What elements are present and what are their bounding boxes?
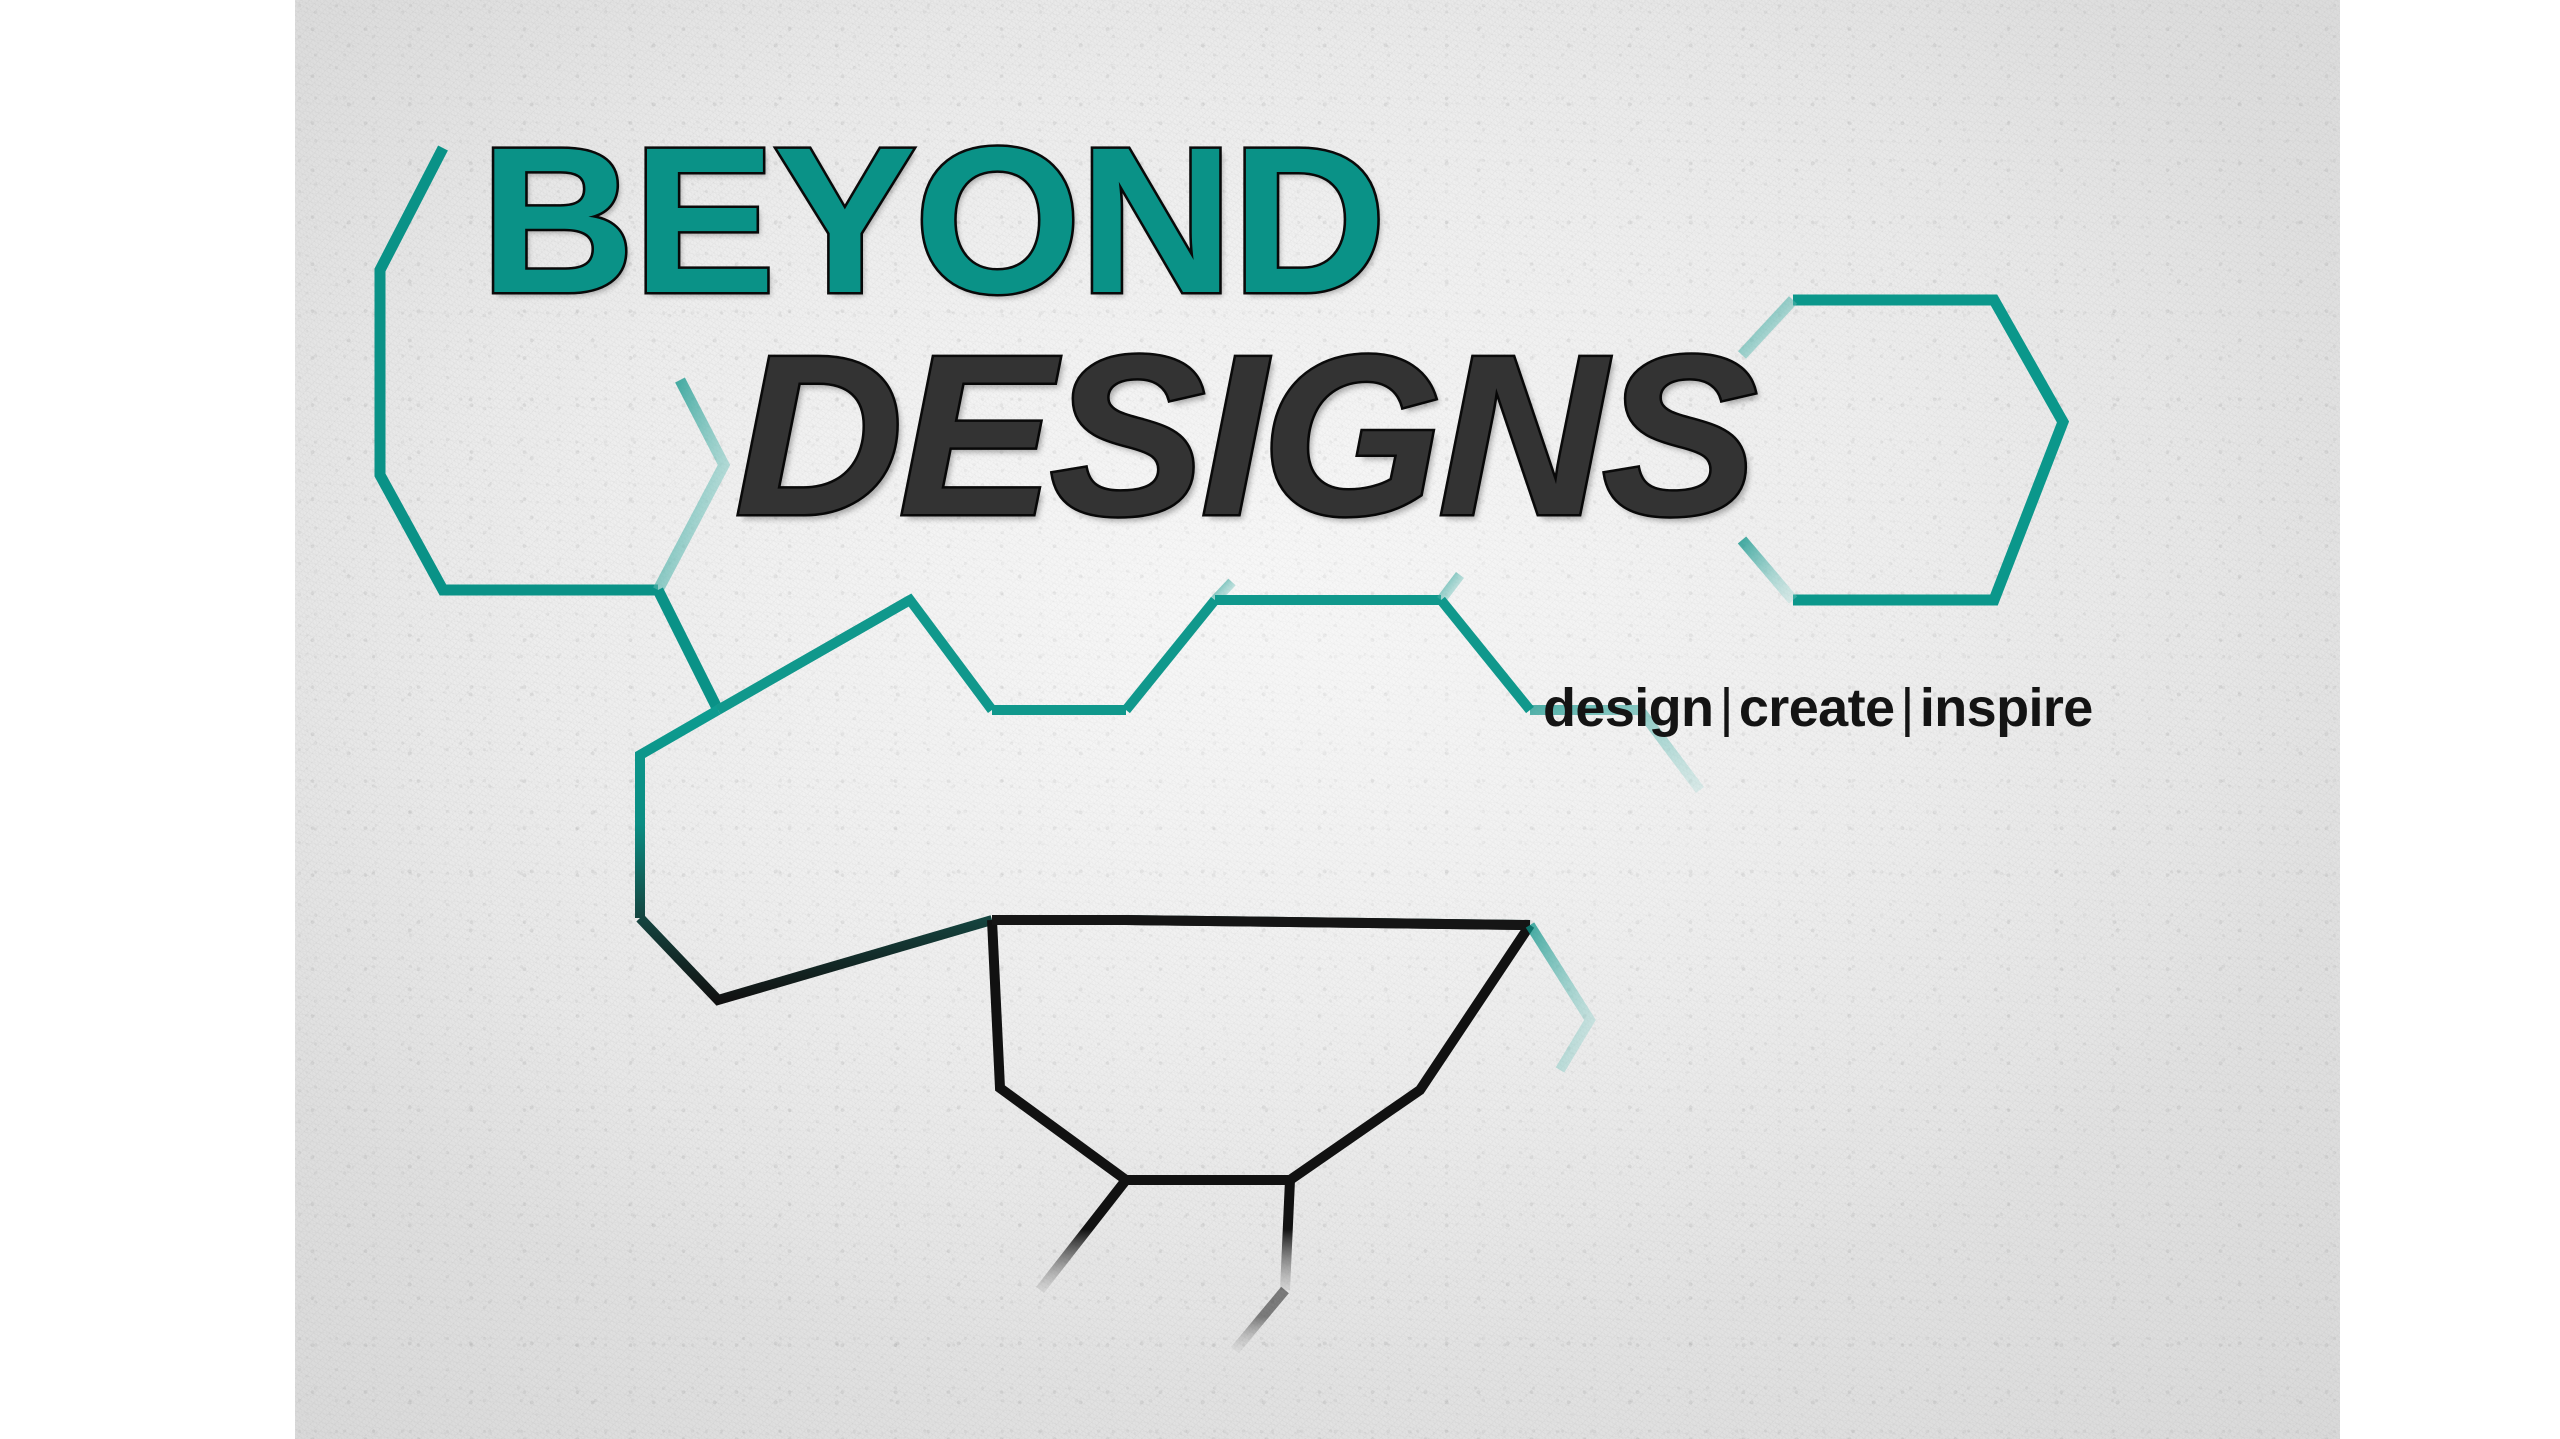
logo-canvas: BEYOND DESIGNS design|create|inspire bbox=[0, 0, 2560, 1439]
tagline-item-create: create bbox=[1739, 678, 1895, 738]
brand-tagline: design|create|inspire bbox=[1543, 677, 2093, 739]
tagline-separator-2: | bbox=[1894, 678, 1919, 738]
tagline-separator-1: | bbox=[1713, 678, 1738, 738]
brand-text-designs: DESIGNS bbox=[735, 343, 1753, 530]
brand-wordmark-designs: DESIGNS bbox=[735, 343, 1733, 530]
brand-text-beyond: BEYOND bbox=[480, 136, 1384, 307]
brand-wordmark-beyond: BEYOND bbox=[480, 136, 1358, 307]
tagline-item-inspire: inspire bbox=[1920, 678, 2093, 738]
tagline-item-design: design bbox=[1543, 678, 1713, 738]
